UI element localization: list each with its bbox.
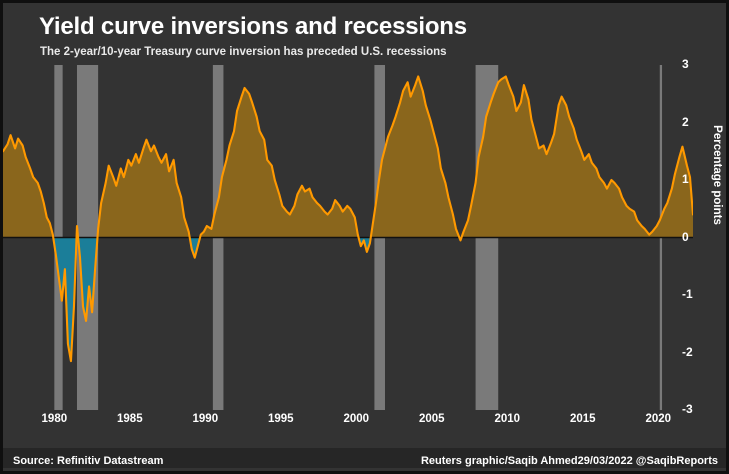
- page-title: Yield curve inversions and recessions: [39, 13, 467, 41]
- positive-area: [3, 77, 693, 362]
- y-axis-tick: 1: [682, 172, 689, 186]
- y-axis-tick: 2: [682, 115, 689, 129]
- series-area: [3, 77, 693, 362]
- y-axis-tick: -2: [682, 345, 693, 359]
- y-axis-tick: 0: [682, 230, 689, 244]
- source-text: Source: Refinitiv Datastream: [13, 455, 163, 467]
- credit-text: Reuters graphic/Saqib Ahmed29/03/2022 @S…: [421, 455, 718, 467]
- chart-svg: [3, 65, 693, 410]
- y-axis-tick: -1: [682, 287, 693, 301]
- x-axis-tick: 1990: [175, 413, 235, 425]
- page-subtitle: The 2-year/10-year Treasury curve invers…: [40, 46, 447, 58]
- chart-container: Yield curve inversions and recessions Th…: [0, 0, 729, 474]
- x-axis-tick: 1980: [24, 413, 84, 425]
- x-axis-tick: 2000: [326, 413, 386, 425]
- x-axis-tick: 2020: [628, 413, 688, 425]
- x-axis-tick: 1985: [100, 413, 160, 425]
- x-axis-tick: 2015: [553, 413, 613, 425]
- x-axis-tick: 2005: [402, 413, 462, 425]
- x-axis-tick: 2010: [477, 413, 537, 425]
- y-axis-label: Percentage points: [711, 125, 723, 225]
- plot-area: [3, 65, 693, 410]
- x-axis-tick: 1995: [251, 413, 311, 425]
- y-axis-tick: 3: [682, 57, 689, 71]
